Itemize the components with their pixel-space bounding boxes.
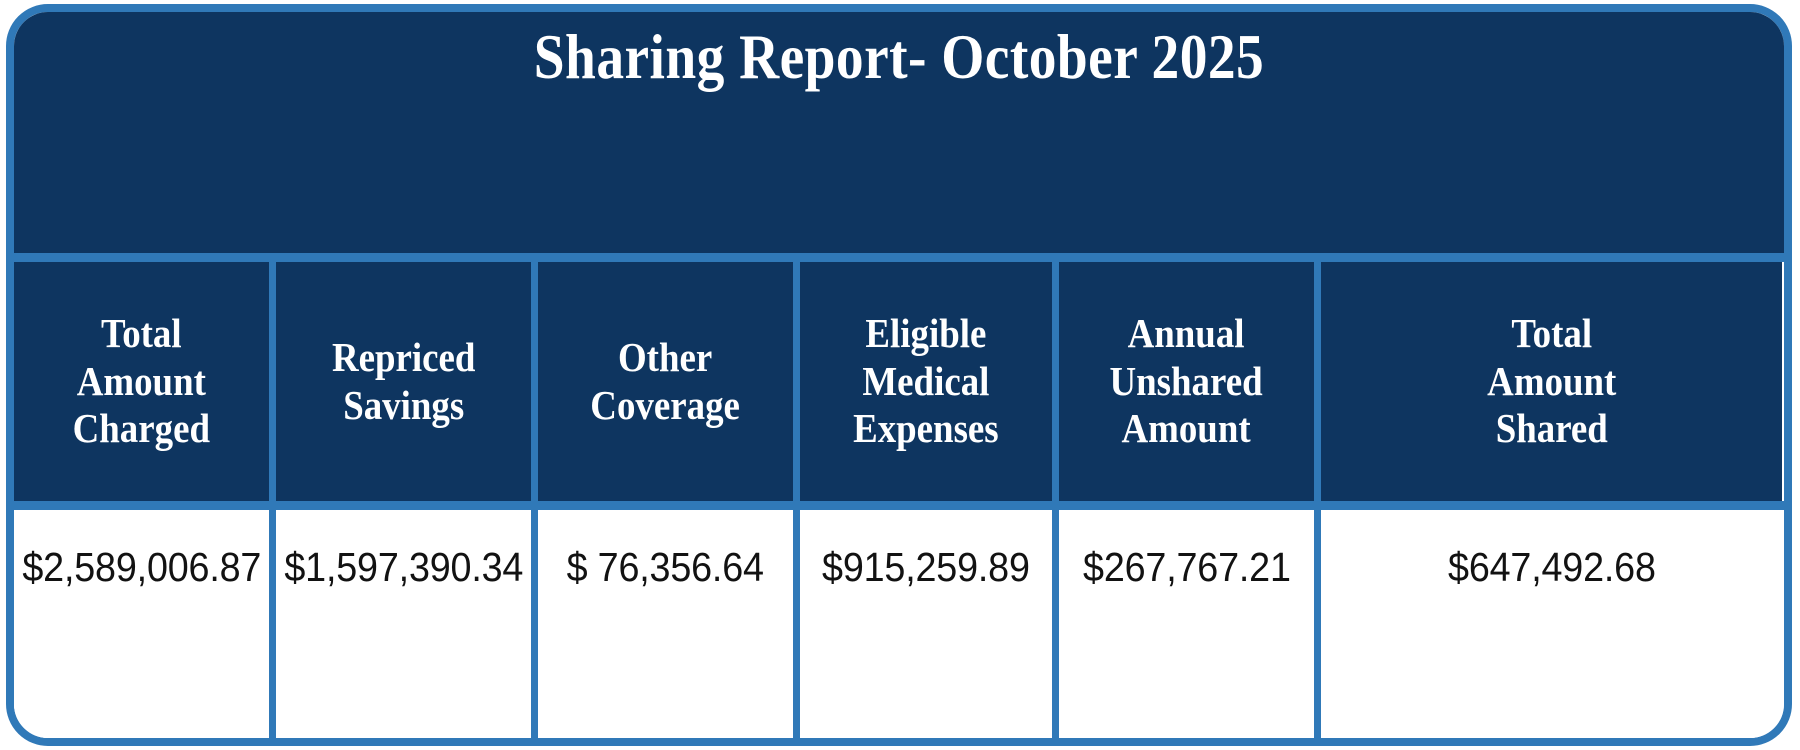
column-header-total-amount-charged: Total Amount Charged xyxy=(14,262,269,501)
column-divider xyxy=(531,510,538,746)
column-header-repriced-savings: Repriced Savings xyxy=(276,262,531,501)
data-value: $915,259.89 xyxy=(822,544,1030,591)
data-value: $647,492.68 xyxy=(1448,544,1656,591)
column-divider xyxy=(1052,262,1059,501)
data-value: $2,589,006.87 xyxy=(22,544,261,591)
column-divider xyxy=(1314,262,1321,501)
data-cell-total-amount-shared: $647,492.68 xyxy=(1321,510,1782,746)
column-divider xyxy=(269,262,276,501)
column-divider xyxy=(531,262,538,501)
column-header-label: Annual Unshared Amount xyxy=(1110,310,1263,453)
data-value: $1,597,390.34 xyxy=(284,544,523,591)
table-header-row: Total Amount Charged Repriced Savings Ot… xyxy=(14,262,1784,501)
column-header-label: Total Amount Shared xyxy=(1487,310,1616,453)
column-header-eligible-medical-expenses: Eligible Medical Expenses xyxy=(800,262,1052,501)
data-cell-other-coverage: $ 76,356.64 xyxy=(538,510,793,746)
report-title-band: Sharing Report- October 2025 xyxy=(14,12,1784,253)
column-header-label: Total Amount Charged xyxy=(73,310,210,453)
column-header-annual-unshared-amount: Annual Unshared Amount xyxy=(1059,262,1314,501)
data-cell-total-amount-charged: $2,589,006.87 xyxy=(14,510,269,746)
data-value: $ 76,356.64 xyxy=(567,544,764,591)
column-header-other-coverage: Other Coverage xyxy=(538,262,793,501)
column-header-total-amount-shared: Total Amount Shared xyxy=(1321,262,1782,501)
column-header-label: Other Coverage xyxy=(591,334,741,429)
data-cell-eligible-medical-expenses: $915,259.89 xyxy=(800,510,1052,746)
page-title: Sharing Report- October 2025 xyxy=(120,26,1678,89)
column-divider xyxy=(1314,510,1321,746)
column-divider xyxy=(269,510,276,746)
column-header-label: Eligible Medical Expenses xyxy=(853,310,999,453)
sharing-report-card: Sharing Report- October 2025 Total Amoun… xyxy=(6,4,1792,746)
column-header-label: Repriced Savings xyxy=(332,334,475,429)
divider-title-header xyxy=(14,253,1784,262)
data-value: $267,767.21 xyxy=(1083,544,1291,591)
column-divider xyxy=(1052,510,1059,746)
table-row: $2,589,006.87 $1,597,390.34 $ 76,356.64 … xyxy=(14,510,1784,746)
divider-header-data xyxy=(14,501,1784,510)
data-cell-annual-unshared-amount: $267,767.21 xyxy=(1059,510,1314,746)
column-divider xyxy=(793,262,800,501)
column-divider xyxy=(793,510,800,746)
data-cell-repriced-savings: $1,597,390.34 xyxy=(276,510,531,746)
